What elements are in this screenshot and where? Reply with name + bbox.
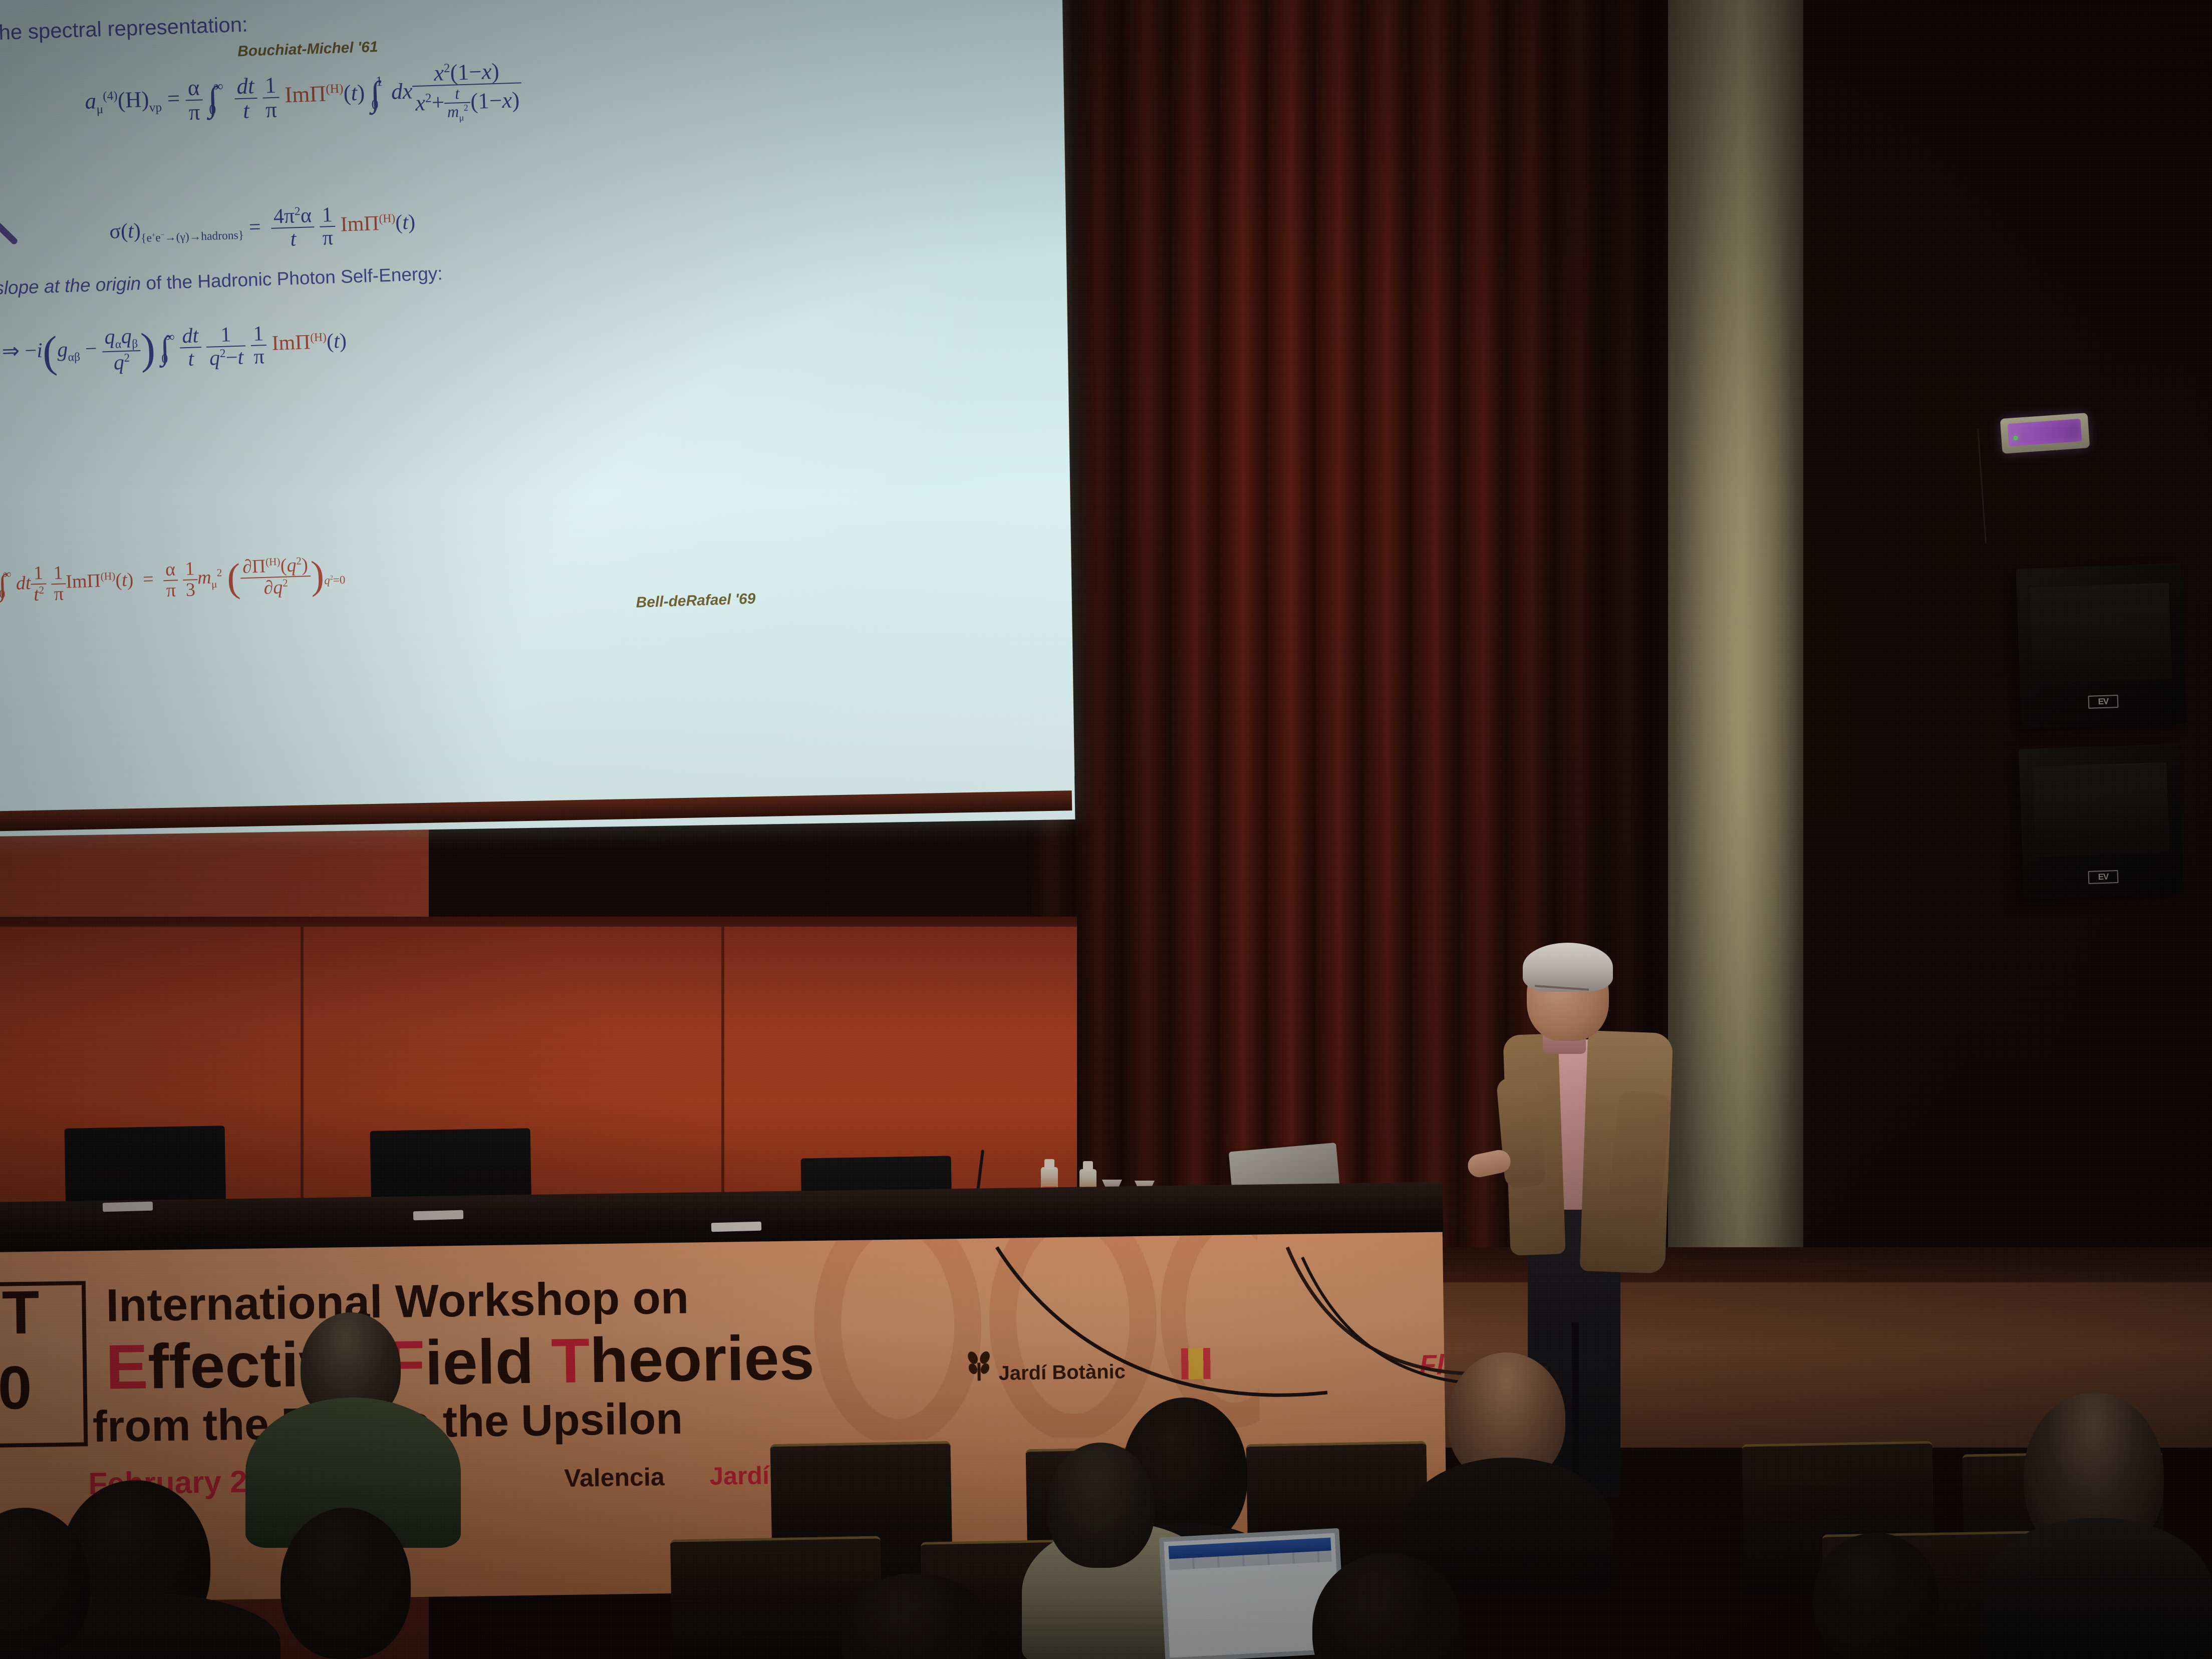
presenter-hair <box>1523 943 1613 992</box>
wall-seam <box>301 927 304 1217</box>
slide-note-italic: slope at the origin <box>0 273 141 299</box>
nameplate <box>413 1210 463 1221</box>
banner-line-2: Effective Field Theories <box>105 1321 814 1404</box>
sponsor-gobierno-logo <box>1181 1347 1269 1379</box>
wall-seam <box>721 927 724 1217</box>
feynman-diagram-icon <box>0 174 106 327</box>
banner-word-ield: ield <box>424 1325 551 1398</box>
wall-speaker-top: EV <box>2016 563 2187 729</box>
slide-citation-bottom: Bell-deRafael '69 <box>636 591 756 612</box>
speaker-grille <box>2030 583 2172 684</box>
slide-intro-line: on the spectral representation: <box>0 13 248 46</box>
nameplate <box>103 1202 153 1212</box>
ev-brand-logo: EV <box>2088 870 2118 884</box>
sponsor-flavianet: FlaviAnet <box>1419 1347 1448 1381</box>
auditorium-photo: Hadronic Vacuum Polarization on the spec… <box>0 0 2212 1659</box>
slide-note-suffix: of the Hadronic Photon Self-Energy: <box>141 263 443 294</box>
wall-panel-seam <box>1803 68 2212 72</box>
audience-head <box>1813 1533 1939 1659</box>
equation-2: σ(t){e+e−→(γ)→hadrons} = 4π2αt 1π ImΠ(H)… <box>109 201 416 256</box>
emergency-light-glow <box>2008 419 2082 446</box>
sponsor-jardi-botanic: Jardí Botànic <box>998 1360 1126 1385</box>
slide-title: Hadronic Vacuum Polarization <box>45 0 478 7</box>
emergency-light <box>2000 413 2090 454</box>
banner-word-heories: heories <box>589 1322 814 1396</box>
audience-shoulders <box>1984 1518 2212 1659</box>
ev-brand-logo: EV <box>2088 695 2118 709</box>
banner-accent-T: T <box>550 1325 590 1396</box>
wall-panel-seam <box>1803 967 2212 971</box>
eft-logo-line-1: FT <box>0 1282 40 1344</box>
equation-4-main: απ 13mμ2 ∫∞0 dt1t2 1πImΠ(H)(t) = απ 13mμ… <box>0 554 346 609</box>
equation-3: −igαβq2 ⇒ −i(gαβ − qαqβq2) ∫∞0 dtt 1q2−t… <box>0 319 347 379</box>
presenter-leg-gap <box>1572 1322 1579 1498</box>
projection-screen: Hadronic Vacuum Polarization on the spec… <box>0 0 1075 837</box>
audience-head <box>281 1508 411 1659</box>
nameplate <box>711 1222 761 1232</box>
banner-line-1: International Workshop on <box>106 1272 689 1332</box>
audience-head <box>1047 1443 1155 1568</box>
jardi-botanic-logo-icon <box>966 1349 992 1381</box>
wall-speaker-bottom: EV <box>2019 744 2184 900</box>
banner-accent-E: E <box>105 1331 148 1403</box>
slide-citation-top: Bouchiat-Michel '61 <box>237 39 379 60</box>
presentation-slide: Hadronic Vacuum Polarization on the spec… <box>0 0 1075 837</box>
banner-city: Valencia <box>564 1462 665 1493</box>
exit-light-cable <box>1977 428 1987 543</box>
speaker-grille <box>2032 762 2170 857</box>
eft-logo-line-2: 00 <box>0 1357 32 1419</box>
equation-1: aμ(4)(H)vp = απ ∫∞0 dtt 1π ImΠ(H)(t) ∫10… <box>84 59 523 134</box>
wall-panel-seam <box>1803 361 2212 365</box>
